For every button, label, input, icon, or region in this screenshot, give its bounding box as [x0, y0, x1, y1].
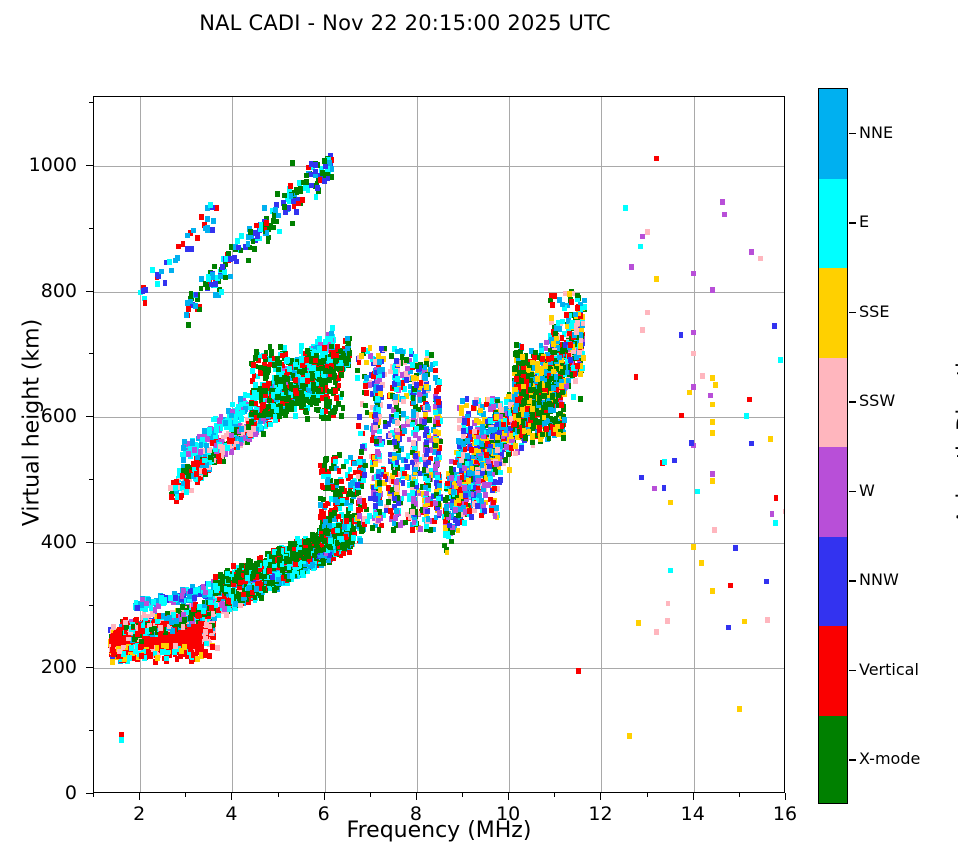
data-point	[226, 598, 231, 604]
data-point	[111, 641, 116, 647]
data-point	[276, 576, 281, 582]
data-point	[247, 584, 252, 590]
data-point	[347, 550, 352, 556]
data-point	[191, 652, 196, 658]
data-point	[183, 636, 188, 642]
data-point	[132, 637, 137, 643]
data-point	[224, 612, 229, 618]
data-point	[169, 620, 174, 626]
data-point	[186, 630, 191, 636]
data-point	[262, 586, 267, 592]
data-point	[181, 624, 186, 630]
data-point	[182, 644, 187, 650]
data-point	[204, 622, 209, 628]
data-point	[259, 595, 264, 601]
data-point	[155, 619, 160, 625]
data-layer	[94, 97, 784, 792]
data-point	[194, 641, 199, 647]
data-point	[173, 643, 178, 649]
data-point	[164, 643, 169, 649]
data-point	[155, 655, 160, 661]
data-point	[236, 592, 241, 598]
data-point	[180, 604, 185, 610]
data-point	[175, 636, 180, 642]
data-point	[300, 570, 305, 576]
data-point	[172, 649, 177, 655]
plot-area[interactable]	[93, 96, 785, 793]
data-point	[233, 601, 238, 607]
data-point	[238, 603, 243, 609]
data-point	[127, 655, 132, 661]
data-point	[254, 586, 259, 592]
data-point	[341, 551, 346, 557]
data-point	[160, 649, 165, 655]
data-point	[117, 649, 122, 655]
data-point	[272, 587, 277, 593]
data-point	[164, 656, 169, 662]
data-point	[204, 641, 209, 647]
data-point	[110, 659, 115, 665]
data-point	[196, 635, 201, 641]
data-point	[161, 613, 166, 619]
data-point	[203, 629, 208, 635]
data-point	[227, 606, 232, 612]
data-point	[138, 644, 143, 650]
data-point	[215, 645, 220, 651]
ionogram-figure: NAL CADI - Nov 22 20:15:00 2025 UTC 2468…	[0, 0, 958, 857]
data-point	[290, 573, 295, 579]
data-point	[191, 607, 196, 613]
data-point	[158, 625, 163, 631]
page-title: NAL CADI - Nov 22 20:15:00 2025 UTC	[0, 11, 810, 35]
data-point	[201, 608, 206, 614]
data-point	[123, 620, 128, 626]
data-point	[210, 644, 215, 650]
data-point	[209, 605, 214, 611]
data-point	[139, 653, 144, 659]
data-point	[131, 624, 136, 630]
data-point	[211, 611, 216, 617]
data-point	[188, 646, 193, 652]
data-point	[199, 644, 204, 650]
data-point	[178, 653, 183, 659]
data-point	[149, 627, 154, 633]
data-point	[270, 579, 275, 585]
data-point	[199, 652, 204, 658]
data-point	[188, 615, 193, 621]
data-point	[115, 632, 120, 638]
data-point	[203, 652, 208, 658]
data-point	[245, 591, 250, 597]
data-point	[139, 639, 144, 645]
data-point	[174, 618, 179, 624]
data-point	[149, 644, 154, 650]
data-point	[241, 592, 246, 598]
data-point	[182, 617, 187, 623]
data-point	[140, 628, 145, 634]
data-point	[310, 562, 315, 568]
data-point	[220, 602, 225, 608]
data-point	[121, 651, 126, 657]
